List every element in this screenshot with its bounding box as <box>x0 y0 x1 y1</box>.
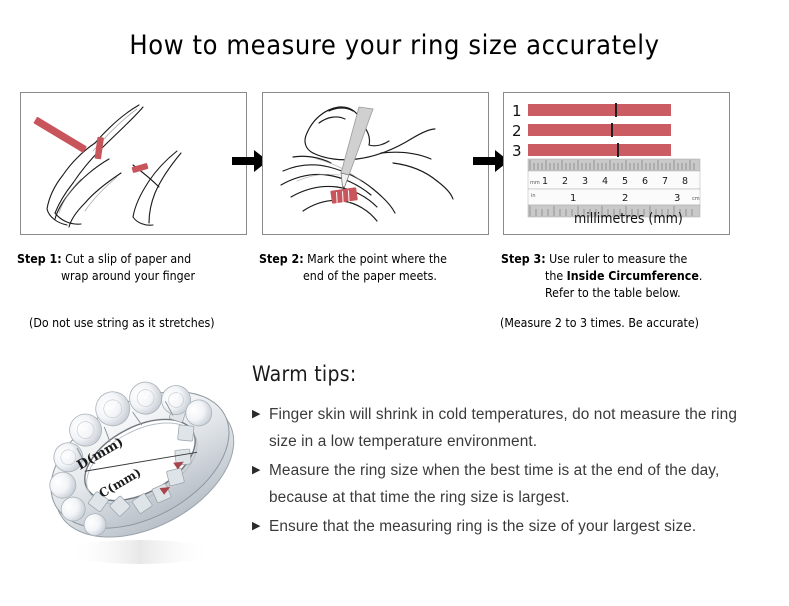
strip-number-1: 1 <box>512 102 522 120</box>
hand-marking-paper-drawing <box>263 93 488 234</box>
measured-strip-3 <box>528 144 671 156</box>
warm-tips-section: Warm tips: ▶ Finger skin will shrink in … <box>252 362 757 544</box>
svg-text:mm: mm <box>530 180 540 186</box>
svg-text:3: 3 <box>674 193 680 204</box>
step-3-caption: Step 3: Use ruler to measure the the Ins… <box>501 251 761 302</box>
svg-text:3: 3 <box>582 176 588 187</box>
svg-text:1: 1 <box>570 193 576 204</box>
ruler-unit-label: millimetres (mm) <box>574 211 683 227</box>
measured-strip-1 <box>528 104 671 116</box>
tip-text: Measure the ring size when the best time… <box>269 458 757 511</box>
step-1-line1: Cut a slip of paper and <box>65 252 191 266</box>
bullet-triangle-icon: ▶ <box>252 458 269 475</box>
pen-icon <box>341 107 373 192</box>
svg-text:5: 5 <box>622 176 628 187</box>
warm-tips-heading: Warm tips: <box>252 362 757 386</box>
svg-text:2: 2 <box>562 176 568 187</box>
strip-number-3: 3 <box>512 142 522 160</box>
step-3-line2-prefix: the <box>545 269 567 283</box>
hand-with-paper-strip-drawing <box>21 93 246 234</box>
step-3-label: Step 3: <box>501 252 546 266</box>
ruler: 12 34 56 78 mm 12 3 in cm <box>528 159 700 217</box>
step-3-line2-suffix: . <box>699 269 703 283</box>
step-3-line2: the Inside Circumference. <box>501 268 761 285</box>
step-1-label: Step 1: <box>17 252 62 266</box>
tip-text: Ensure that the measuring ring is the si… <box>269 514 757 541</box>
step-2-illustration-panel <box>262 92 489 235</box>
step-1-caption: Step 1: Cut a slip of paper and wrap aro… <box>17 251 252 285</box>
step-2-caption: Step 2: Mark the point where the end of … <box>259 251 494 285</box>
bullet-triangle-icon: ▶ <box>252 514 269 531</box>
step-2-label: Step 2: <box>259 252 304 266</box>
svg-text:cm: cm <box>692 196 700 202</box>
step-2-line1: Mark the point where the <box>307 252 447 266</box>
paper-strip-marked <box>330 187 358 204</box>
step-3-emphasis: Inside Circumference <box>567 269 699 283</box>
step-3-line1: Use ruler to measure the <box>549 252 687 266</box>
svg-text:7: 7 <box>662 176 668 187</box>
ring-diagram: D(mm) C(mm) <box>28 352 256 582</box>
measured-strip-2 <box>528 124 671 136</box>
step-1-note: (Do not use string as it stretches) <box>29 316 215 330</box>
tip-item: ▶ Finger skin will shrink in cold temper… <box>252 402 757 455</box>
svg-text:8: 8 <box>682 176 688 187</box>
tip-item: ▶ Ensure that the measuring ring is the … <box>252 514 757 541</box>
tip-text: Finger skin will shrink in cold temperat… <box>269 402 757 455</box>
step-3-illustration-panel: 1 2 3 <box>503 92 730 235</box>
page-title: How to measure your ring size accurately <box>0 30 789 61</box>
tip-item: ▶ Measure the ring size when the best ti… <box>252 458 757 511</box>
svg-text:1: 1 <box>542 176 548 187</box>
step-1-line2: wrap around your finger <box>17 268 252 285</box>
step-3-note: (Measure 2 to 3 times. Be accurate) <box>500 316 699 330</box>
svg-text:6: 6 <box>642 176 648 187</box>
svg-text:4: 4 <box>602 176 608 187</box>
step-1-illustration-panel <box>20 92 247 235</box>
paper-slip-red <box>33 117 87 153</box>
ring-photo-illustration: D(mm) C(mm) <box>28 352 256 582</box>
paper-strip-end <box>131 163 148 173</box>
svg-text:2: 2 <box>622 193 628 204</box>
svg-text:in: in <box>531 193 536 199</box>
step-3-line3: Refer to the table below. <box>501 285 761 302</box>
step-2-line2: end of the paper meets. <box>259 268 494 285</box>
strip-number-2: 2 <box>512 122 522 140</box>
ring-size-guide-page: How to measure your ring size accurately <box>0 0 789 606</box>
bullet-triangle-icon: ▶ <box>252 402 269 419</box>
